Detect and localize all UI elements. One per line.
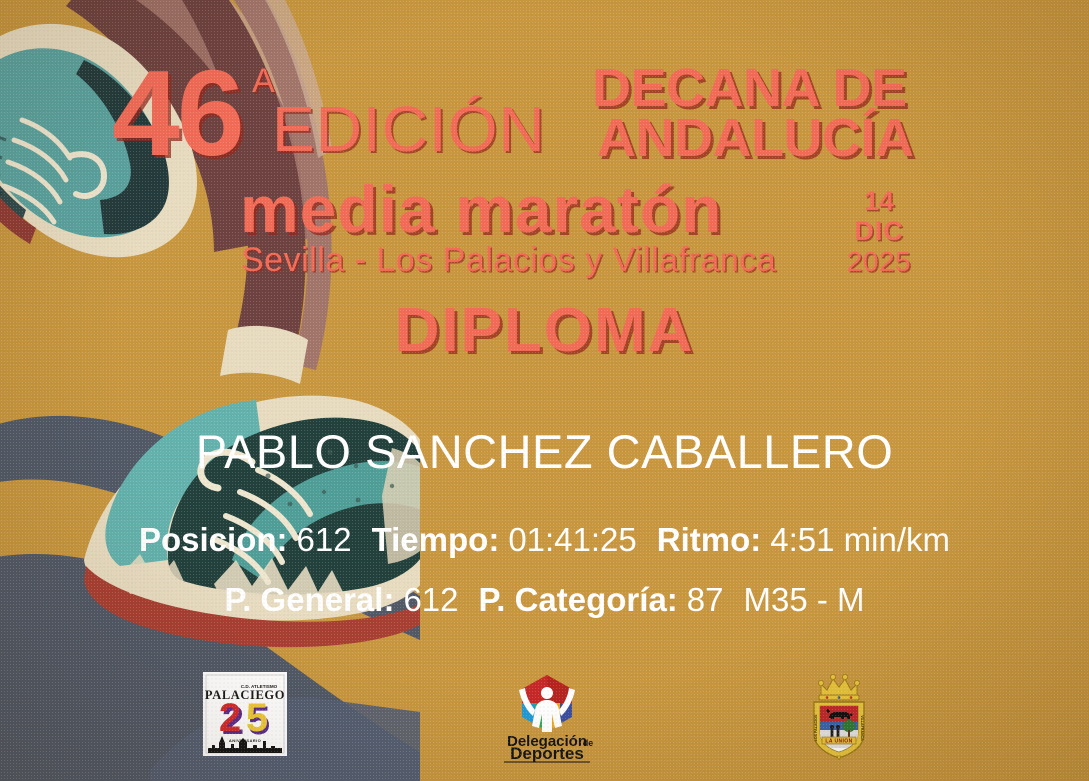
event-location: Sevilla - Los Palacios y Villafranca	[241, 243, 776, 277]
value-posicion: 612	[297, 521, 352, 558]
svg-text:2: 2	[219, 696, 241, 740]
label-p-general: P. General:	[224, 581, 394, 618]
label-tiempo: Tiempo:	[372, 521, 500, 558]
value-ritmo: 4:51 min/km	[770, 521, 950, 558]
decana-line-1: DECANA DE	[592, 62, 907, 115]
svg-text:5: 5	[246, 696, 268, 740]
logo-escudo-la-union: LA UNION LOS PALACIOS VILLAFRANCA	[803, 668, 875, 760]
edition-number: 46	[112, 52, 242, 174]
event-date-day: 14	[836, 186, 922, 216]
value-tiempo: 01:41:25	[508, 521, 636, 558]
deportes-line2: Deportes	[510, 744, 584, 763]
deportes-line1-b: de	[583, 738, 594, 748]
value-categoria-code: M35 - M	[744, 581, 865, 618]
runner-name: PABLO SANCHEZ CABALLERO	[0, 424, 1089, 479]
escudo-right-text: VILLAFRANCA	[860, 715, 864, 741]
results-row-general-category: P. General:612P. Categoría:87M35 - M	[0, 581, 1089, 619]
page-title: DIPLOMA	[0, 300, 1089, 362]
event-name: media maratón	[240, 176, 722, 242]
label-p-categoria: P. Categoría:	[479, 581, 678, 618]
label-ritmo: Ritmo:	[657, 521, 761, 558]
value-p-categoria: 87	[687, 581, 724, 618]
diploma-poster: 46 A EDICIÓN DECANA DE ANDALUCÍA media m…	[0, 0, 1089, 781]
event-date: 14 DIC 2025	[836, 186, 922, 278]
results-row-position-time-pace: Posicion:612Tiempo:01:41:25Ritmo:4:51 mi…	[0, 521, 1089, 559]
event-date-year: 2025	[836, 246, 922, 277]
logo-delegacion-de-deportes: Delegación de Deportes Ayuntamiento de L…	[492, 670, 602, 764]
label-posicion: Posicion:	[139, 521, 288, 558]
edition-word: EDICIÓN	[272, 97, 546, 161]
escudo-left-text: LOS PALACIOS	[814, 714, 818, 741]
event-date-month: DIC	[836, 216, 922, 246]
value-p-general: 612	[403, 581, 458, 618]
sponsor-logos: C.D. ATLETISMO PALACIEGO 2 5 2 5 ANIVERS…	[0, 662, 1089, 772]
logo-cd-atletismo-palaciego: C.D. ATLETISMO PALACIEGO 2 5 2 5 ANIVERS…	[203, 672, 287, 756]
escudo-banner-text: LA UNION	[825, 738, 852, 744]
decana-line-2: ANDALUCÍA	[597, 112, 913, 165]
